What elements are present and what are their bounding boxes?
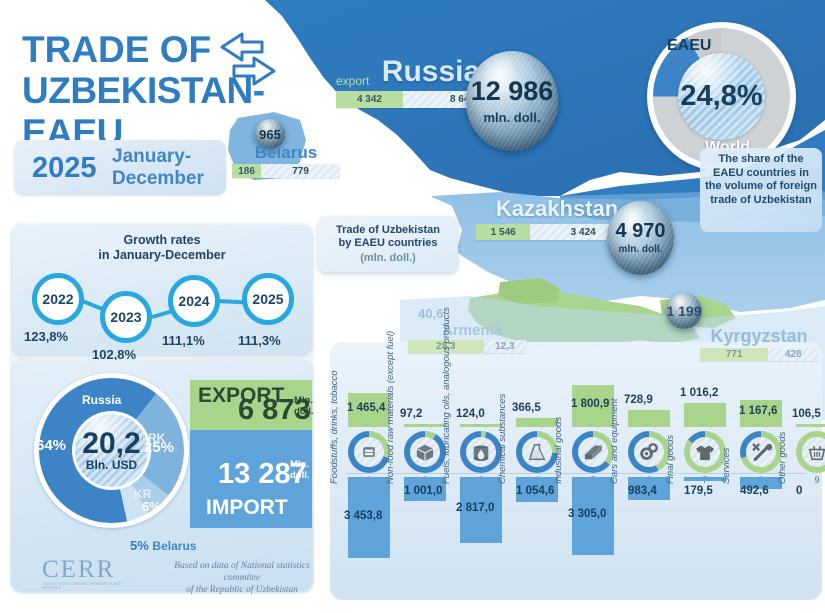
export-label-russia: export xyxy=(336,74,369,88)
total-value-armenia: 40,6 xyxy=(418,306,443,321)
import-value-armenia: 12,3 xyxy=(484,340,526,353)
cerr-logo: CERR CENTER FOR ECONOMIC RESEARCH AND RE… xyxy=(42,556,138,590)
chart-category-6: Cars and equipment xyxy=(609,398,620,484)
chart-category-4: Chemical substances xyxy=(497,394,508,484)
slice-pct-kr: 6% xyxy=(142,499,161,514)
total-trade-value: 20,2 xyxy=(82,430,140,458)
growth-node-2022[interactable]: 2022 xyxy=(32,273,84,325)
country-bar-armenia: 28,3 12,3 xyxy=(408,340,526,353)
slice-name-belarus: Belarus xyxy=(152,539,196,553)
export-bar-4 xyxy=(516,418,558,427)
source-line-1: Based on data of National statistics com… xyxy=(162,560,322,584)
slice-pct-russia: 64% xyxy=(36,437,66,454)
chart-axis xyxy=(346,473,806,474)
export-label-8: 1 167,6 xyxy=(739,405,777,417)
growth-node-2025[interactable]: 2025 xyxy=(242,273,294,325)
trade-note-unit: (mln. doll.) xyxy=(360,252,416,265)
gears-icon[interactable] xyxy=(628,431,670,473)
growth-rates-panel: Growth rates in January-December 2022 20… xyxy=(12,225,312,355)
export-bar-2 xyxy=(404,424,446,427)
chart-category-5: Industrial goods xyxy=(553,417,564,484)
slice-label-russia: Russia xyxy=(82,393,121,407)
period-pill: 2025 January-December xyxy=(14,140,226,195)
source-note: Based on data of National statistics com… xyxy=(162,560,322,596)
import-value-belarus: 779 xyxy=(261,164,340,178)
total-value-kazakhstan: 4 970 xyxy=(615,221,665,241)
import-bar-7 xyxy=(684,477,726,481)
export-label-1: 1 465,4 xyxy=(347,402,385,414)
growth-value-2022: 123,8% xyxy=(24,329,68,344)
import-label-5: 3 305,0 xyxy=(568,508,606,520)
import-word: IMPORT xyxy=(206,496,288,520)
source-line-2: of the Republic of Uzbekistan xyxy=(162,584,322,596)
growth-value-2025: 111,3% xyxy=(238,333,281,348)
export-bar-6 xyxy=(628,410,670,427)
trade-structure-panel: EXPORT 6 873 Mln. doll. 13 287 Mln. doll… xyxy=(12,360,312,590)
steel-beam-icon[interactable] xyxy=(572,431,614,473)
import-total-block: 13 287 Mln. doll. IMPORT xyxy=(190,430,312,528)
eaeu-label: EAEU xyxy=(667,37,711,55)
total-sphere-kyrgyzstan: 1 199 xyxy=(666,293,702,329)
infographic-root: TRADE OF UZBEKISTAN-EAEU 2025 January-De… xyxy=(0,0,825,613)
trade-note-line-1: Trade of Uzbekistan xyxy=(336,224,440,237)
country-callout-belarus: Belarus 186 779 xyxy=(232,143,340,178)
total-value-kyrgyzstan: 1 199 xyxy=(666,304,701,318)
import-label-8: 492,6 xyxy=(740,485,769,497)
chart-category-7: Final goods xyxy=(665,435,676,484)
raw-materials-box-icon[interactable] xyxy=(404,431,446,473)
export-total-block: EXPORT 6 873 Mln. doll. xyxy=(190,380,312,430)
growth-title-line-2: in January-December xyxy=(12,248,312,263)
slice-pct-rk: 25% xyxy=(144,439,174,456)
import-label-2: 1 001,0 xyxy=(404,485,442,497)
eaeu-donut-center: 24,8% xyxy=(678,53,765,140)
export-label-6: 728,9 xyxy=(624,394,653,406)
country-bar-belarus: 186 779 xyxy=(232,164,340,178)
growth-node-2024[interactable]: 2024 xyxy=(168,275,220,327)
shopping-basket-icon[interactable] xyxy=(796,431,825,473)
chart-category-9: Other goods xyxy=(777,432,788,484)
import-label-3: 2 817,0 xyxy=(456,502,494,514)
export-value-belarus: 186 xyxy=(232,164,261,178)
year-label: 2025 xyxy=(32,152,97,185)
chart-index-9: 9 xyxy=(794,475,825,485)
growth-title-line-1: Growth rates xyxy=(12,233,312,248)
double-arrow-icon xyxy=(216,28,280,90)
export-total-unit: Mln. doll. xyxy=(294,396,312,417)
trade-note-line-2: by EAEU countries xyxy=(338,237,437,250)
import-total-unit: Mln. doll. xyxy=(290,460,310,481)
import-label-9: 0 xyxy=(796,485,802,497)
cerr-logo-text: CERR xyxy=(42,556,138,584)
import-label-6: 983,4 xyxy=(628,485,657,497)
tools-icon[interactable] xyxy=(740,431,782,473)
slice-pct-belarus: 5% xyxy=(130,538,149,553)
import-label-4: 1 054,6 xyxy=(516,485,554,497)
export-bar-9 xyxy=(796,424,825,427)
fuel-barrel-icon[interactable] xyxy=(460,431,502,473)
trade-note-box: Trade of Uzbekistan by EAEU countries (m… xyxy=(318,216,458,272)
import-label-7: 179,5 xyxy=(684,485,713,497)
export-label-4: 366,5 xyxy=(512,402,541,414)
chemical-flask-icon[interactable] xyxy=(516,431,558,473)
export-label-9: 106,5 xyxy=(792,408,821,420)
total-sphere-kazakhstan: 4 970 mln. doll. xyxy=(607,201,674,275)
food-basket-icon[interactable] xyxy=(348,431,390,473)
total-value-belarus: 965 xyxy=(259,128,281,141)
total-unit-russia: mln. doll. xyxy=(483,111,540,124)
country-callout-armenia: 40,6 Armenia 28,3 12,3 xyxy=(408,322,526,353)
export-bar-7 xyxy=(684,403,726,427)
chart-category-3: Fuels, lubricating oils, analogous produ… xyxy=(441,307,452,484)
tshirt-icon[interactable] xyxy=(684,431,726,473)
growth-value-2024: 111,1% xyxy=(162,333,205,348)
chart-category-8: Services xyxy=(721,448,732,484)
growth-title: Growth rates in January-December xyxy=(12,233,312,263)
export-value-russia: 4 342 xyxy=(336,91,403,108)
total-unit-kazakhstan: mln. doll. xyxy=(619,245,663,255)
partner-donut-center: 20,2 Bln. USD xyxy=(72,411,151,490)
chart-category-1: Foodstuffs, drinks, tobacco xyxy=(329,370,340,484)
commodity-trade-chart: 1 465,413 453,8Foodstuffs, drinks, tobac… xyxy=(330,355,820,595)
import-label-1: 3 453,8 xyxy=(344,510,382,522)
total-sphere-russia: 12 986 mln. doll. xyxy=(466,51,558,151)
total-value-russia: 12 986 xyxy=(471,78,554,105)
total-trade-unit: Bln. USD xyxy=(86,458,137,472)
eaeu-share-note: The share of the EAEU countries in the v… xyxy=(700,148,822,232)
export-bar-3 xyxy=(460,424,502,427)
export-label-5: 1 800,9 xyxy=(571,398,609,410)
export-label-7: 1 016,2 xyxy=(680,387,718,399)
partner-share-donut: 20,2 Bln. USD Russia 64% RK 25% KR 6% xyxy=(34,373,189,528)
country-name-belarus: Belarus xyxy=(232,143,340,163)
chart-category-2: Non-food raw materials (except fuel) xyxy=(385,331,396,484)
export-label-3: 124,0 xyxy=(456,408,485,420)
period-label: January-December xyxy=(112,146,222,190)
eaeu-percent: 24,8% xyxy=(680,80,762,113)
cerr-logo-subtext: CENTER FOR ECONOMIC RESEARCH AND REFORMS xyxy=(42,582,138,590)
slice-label-belarus: 5% Belarus xyxy=(130,538,196,553)
growth-node-2023[interactable]: 2023 xyxy=(100,291,152,343)
export-value-kazakhstan: 1 546 xyxy=(476,224,530,240)
country-name-kyrgyzstan: Kyrgyzstan xyxy=(700,326,818,347)
export-label-2: 97,2 xyxy=(400,408,422,420)
country-name-armenia: Armenia xyxy=(408,322,526,339)
